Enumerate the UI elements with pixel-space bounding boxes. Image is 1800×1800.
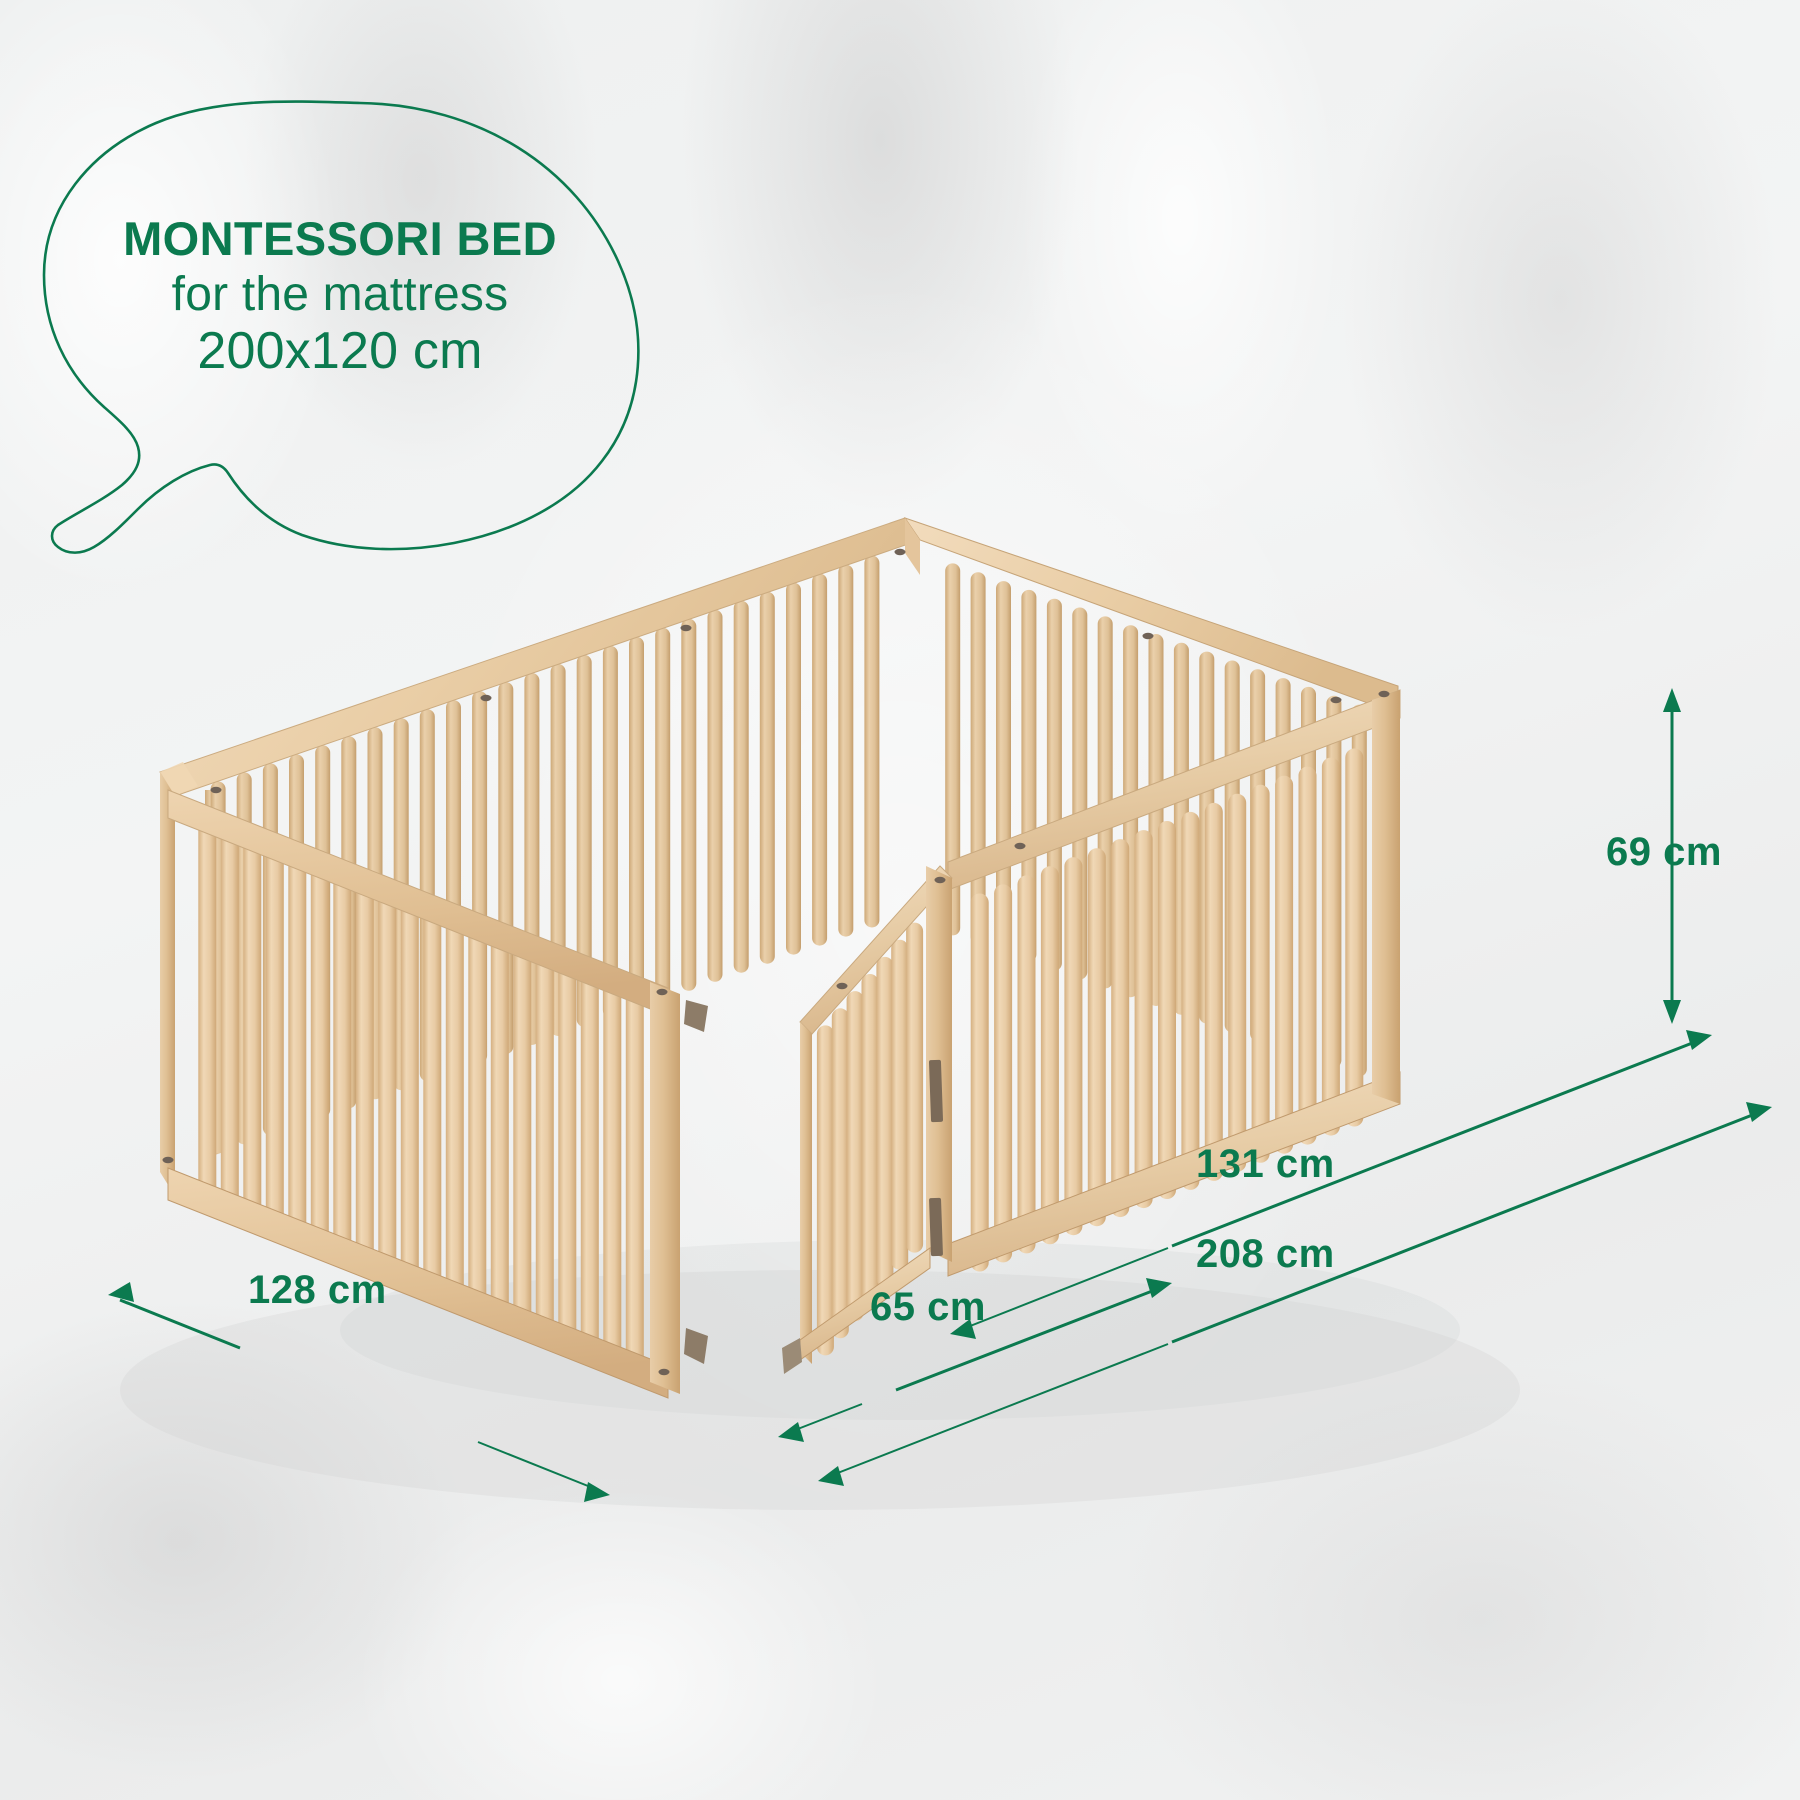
dimension-label-outer-length: 208 cm <box>1196 1232 1335 1277</box>
dimension-label-gate-width: 65 cm <box>870 1285 986 1330</box>
callout-text-block: MONTESSORI BED for the mattress 200x120 … <box>60 215 620 378</box>
dimension-label-width: 128 cm <box>248 1268 387 1313</box>
gate-hinge-upper <box>929 1060 943 1122</box>
callout-subtitle: for the mattress <box>60 270 620 320</box>
gate-hinge-lower <box>929 1198 943 1256</box>
callout-size: 200x120 cm <box>60 324 620 378</box>
dimension-label-inner-length: 131 cm <box>1196 1142 1335 1187</box>
dimension-label-height: 69 cm <box>1606 830 1722 875</box>
gate-latch-upper <box>684 1000 708 1032</box>
callout-title: MONTESSORI BED <box>60 215 620 264</box>
dim-line-width <box>120 1300 240 1348</box>
product-infographic: MONTESSORI BED for the mattress 200x120 … <box>0 0 1800 1800</box>
